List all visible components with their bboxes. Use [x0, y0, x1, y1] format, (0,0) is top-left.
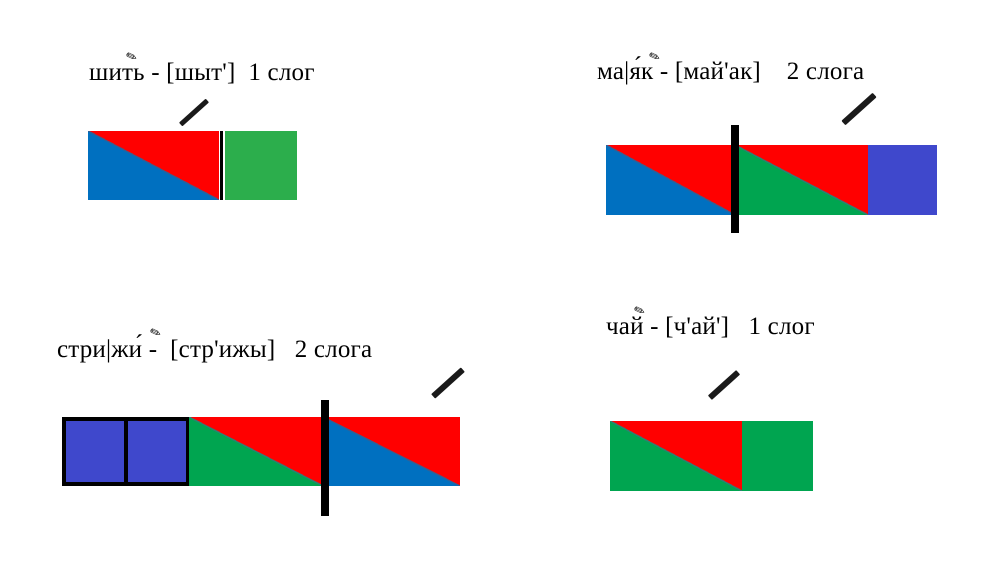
sound-cell-3[interactable]	[189, 417, 323, 486]
diagonal-fill-green-red	[610, 421, 742, 491]
syllable-divider-strizhi	[321, 400, 329, 516]
cell-separator	[220, 131, 223, 200]
sound-cell-4[interactable]	[323, 417, 460, 486]
sound-cell-1[interactable]	[610, 421, 742, 491]
sound-cell-1[interactable]	[606, 145, 735, 215]
pointer-stroke-shit	[179, 99, 209, 127]
pointer-stroke-strizhi	[431, 367, 465, 398]
diagonal-fill-blue-red	[606, 145, 735, 215]
scheme-strip-shit	[88, 131, 297, 200]
sound-cell-2[interactable]	[742, 421, 813, 491]
caption-mayak: ма|я́к - [май'ак] 2 слога	[597, 58, 864, 86]
diagonal-fill-green-red	[735, 145, 868, 215]
pointer-stroke-mayak	[841, 93, 876, 126]
sound-cell-3[interactable]	[868, 145, 937, 215]
scheme-strip-chay	[610, 421, 813, 491]
scheme-strip-mayak	[606, 145, 937, 215]
sound-cell-1[interactable]	[62, 417, 128, 486]
caption-shit: шить - [шыт'] 1 слог	[89, 59, 315, 87]
sound-cell-2[interactable]	[225, 131, 297, 200]
caption-strizhi: стри|жи́ - [стр'ижы] 2 слога	[57, 336, 372, 364]
diagonal-fill-green-red	[189, 417, 323, 486]
diagonal-fill-blue-red	[88, 131, 219, 200]
sound-cell-2[interactable]	[124, 417, 190, 486]
sound-cell-2[interactable]	[735, 145, 868, 215]
worksheet-canvas: шить - [шыт'] 1 слог ✎ ма|я́к - [май'ак]…	[0, 0, 986, 566]
sound-cell-1[interactable]	[88, 131, 219, 200]
diagonal-fill-blue-red	[323, 417, 460, 486]
scheme-strip-strizhi	[62, 417, 460, 486]
syllable-divider-mayak	[731, 125, 739, 233]
pointer-stroke-chay	[708, 370, 740, 400]
